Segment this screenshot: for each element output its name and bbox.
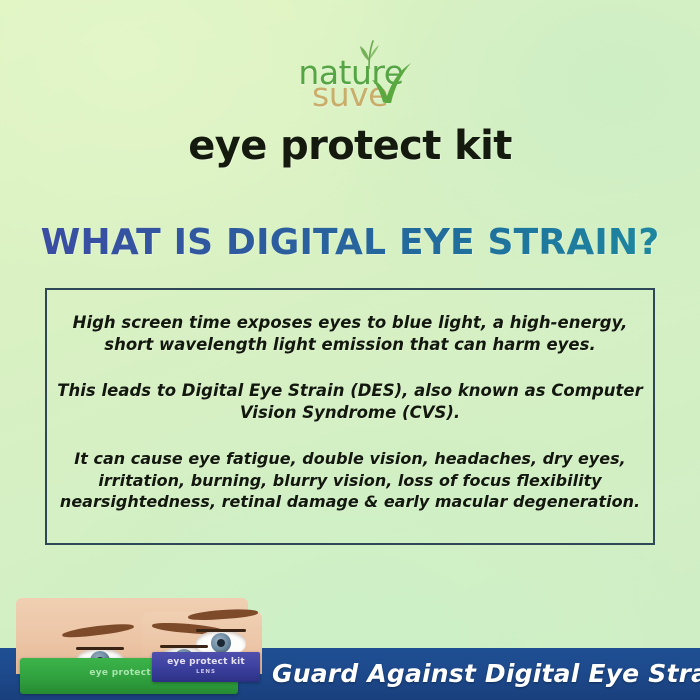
info-paragraph-1: High screen time exposes eyes to blue li…: [47, 312, 653, 357]
poster-canvas: nature suve eye protect kit WHAT IS DIGI…: [0, 0, 700, 700]
info-paragraph-2: This leads to Digital Eye Strain (DES), …: [47, 380, 653, 425]
iris: [211, 633, 231, 653]
info-paragraph-3: It can cause eye fatigue, double vision,…: [47, 448, 653, 513]
bottom-banner-text: Guard Against Digital Eye Strain: [272, 648, 700, 700]
eyelash: [196, 629, 246, 632]
product-title: eye protect kit: [0, 123, 700, 169]
brand-logo-inner: nature suve: [296, 56, 403, 111]
brand-logo-line1: nature: [296, 56, 403, 89]
eyelash: [76, 647, 124, 650]
eyelash: [160, 645, 208, 648]
product-box-blue: eye protect kit LENS: [152, 652, 260, 682]
info-box: High screen time exposes eyes to blue li…: [45, 288, 655, 545]
brand-logo: nature suve: [0, 56, 700, 122]
product-photo: eye protect kit eye protect kit LENS: [0, 598, 262, 700]
page-heading: WHAT IS DIGITAL EYE STRAIN?: [0, 222, 700, 263]
product-box-blue-sublabel: LENS: [152, 669, 260, 675]
product-box-blue-label: eye protect kit: [152, 657, 260, 667]
